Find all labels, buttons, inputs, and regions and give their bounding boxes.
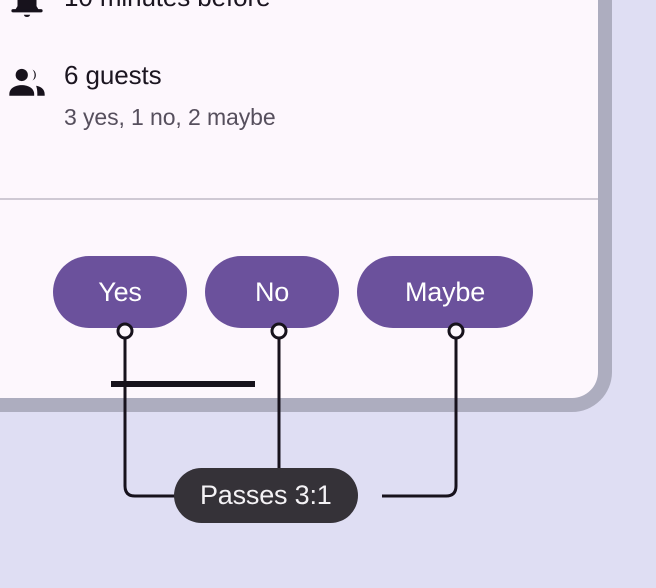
annotation-pill: Passes 3:1 bbox=[174, 468, 358, 523]
rsvp-maybe-button[interactable]: Maybe bbox=[357, 256, 533, 328]
detail-row-reminder[interactable]: 10 minutes before bbox=[0, 0, 270, 22]
guest-breakdown: 3 yes, 1 no, 2 maybe bbox=[64, 101, 276, 133]
reminder-title: 10 minutes before bbox=[64, 0, 270, 14]
bell-icon bbox=[0, 0, 54, 22]
rsvp-button-group: Yes No Maybe bbox=[53, 256, 533, 328]
people-icon bbox=[0, 58, 54, 104]
rsvp-yes-button[interactable]: Yes bbox=[53, 256, 187, 328]
detail-row-guests[interactable]: 6 guests 3 yes, 1 no, 2 maybe bbox=[0, 58, 276, 133]
event-detail-card: 10 minutes before 6 guests 3 yes, 1 no, … bbox=[0, 0, 612, 412]
section-divider bbox=[0, 198, 598, 200]
guests-text: 6 guests 3 yes, 1 no, 2 maybe bbox=[54, 58, 276, 133]
page-root: 10 minutes before 6 guests 3 yes, 1 no, … bbox=[0, 0, 656, 588]
guest-count: 6 guests bbox=[64, 58, 276, 92]
card-content: 10 minutes before 6 guests 3 yes, 1 no, … bbox=[0, 0, 598, 398]
reminder-text: 10 minutes before bbox=[54, 0, 270, 14]
rsvp-no-button[interactable]: No bbox=[205, 256, 339, 328]
